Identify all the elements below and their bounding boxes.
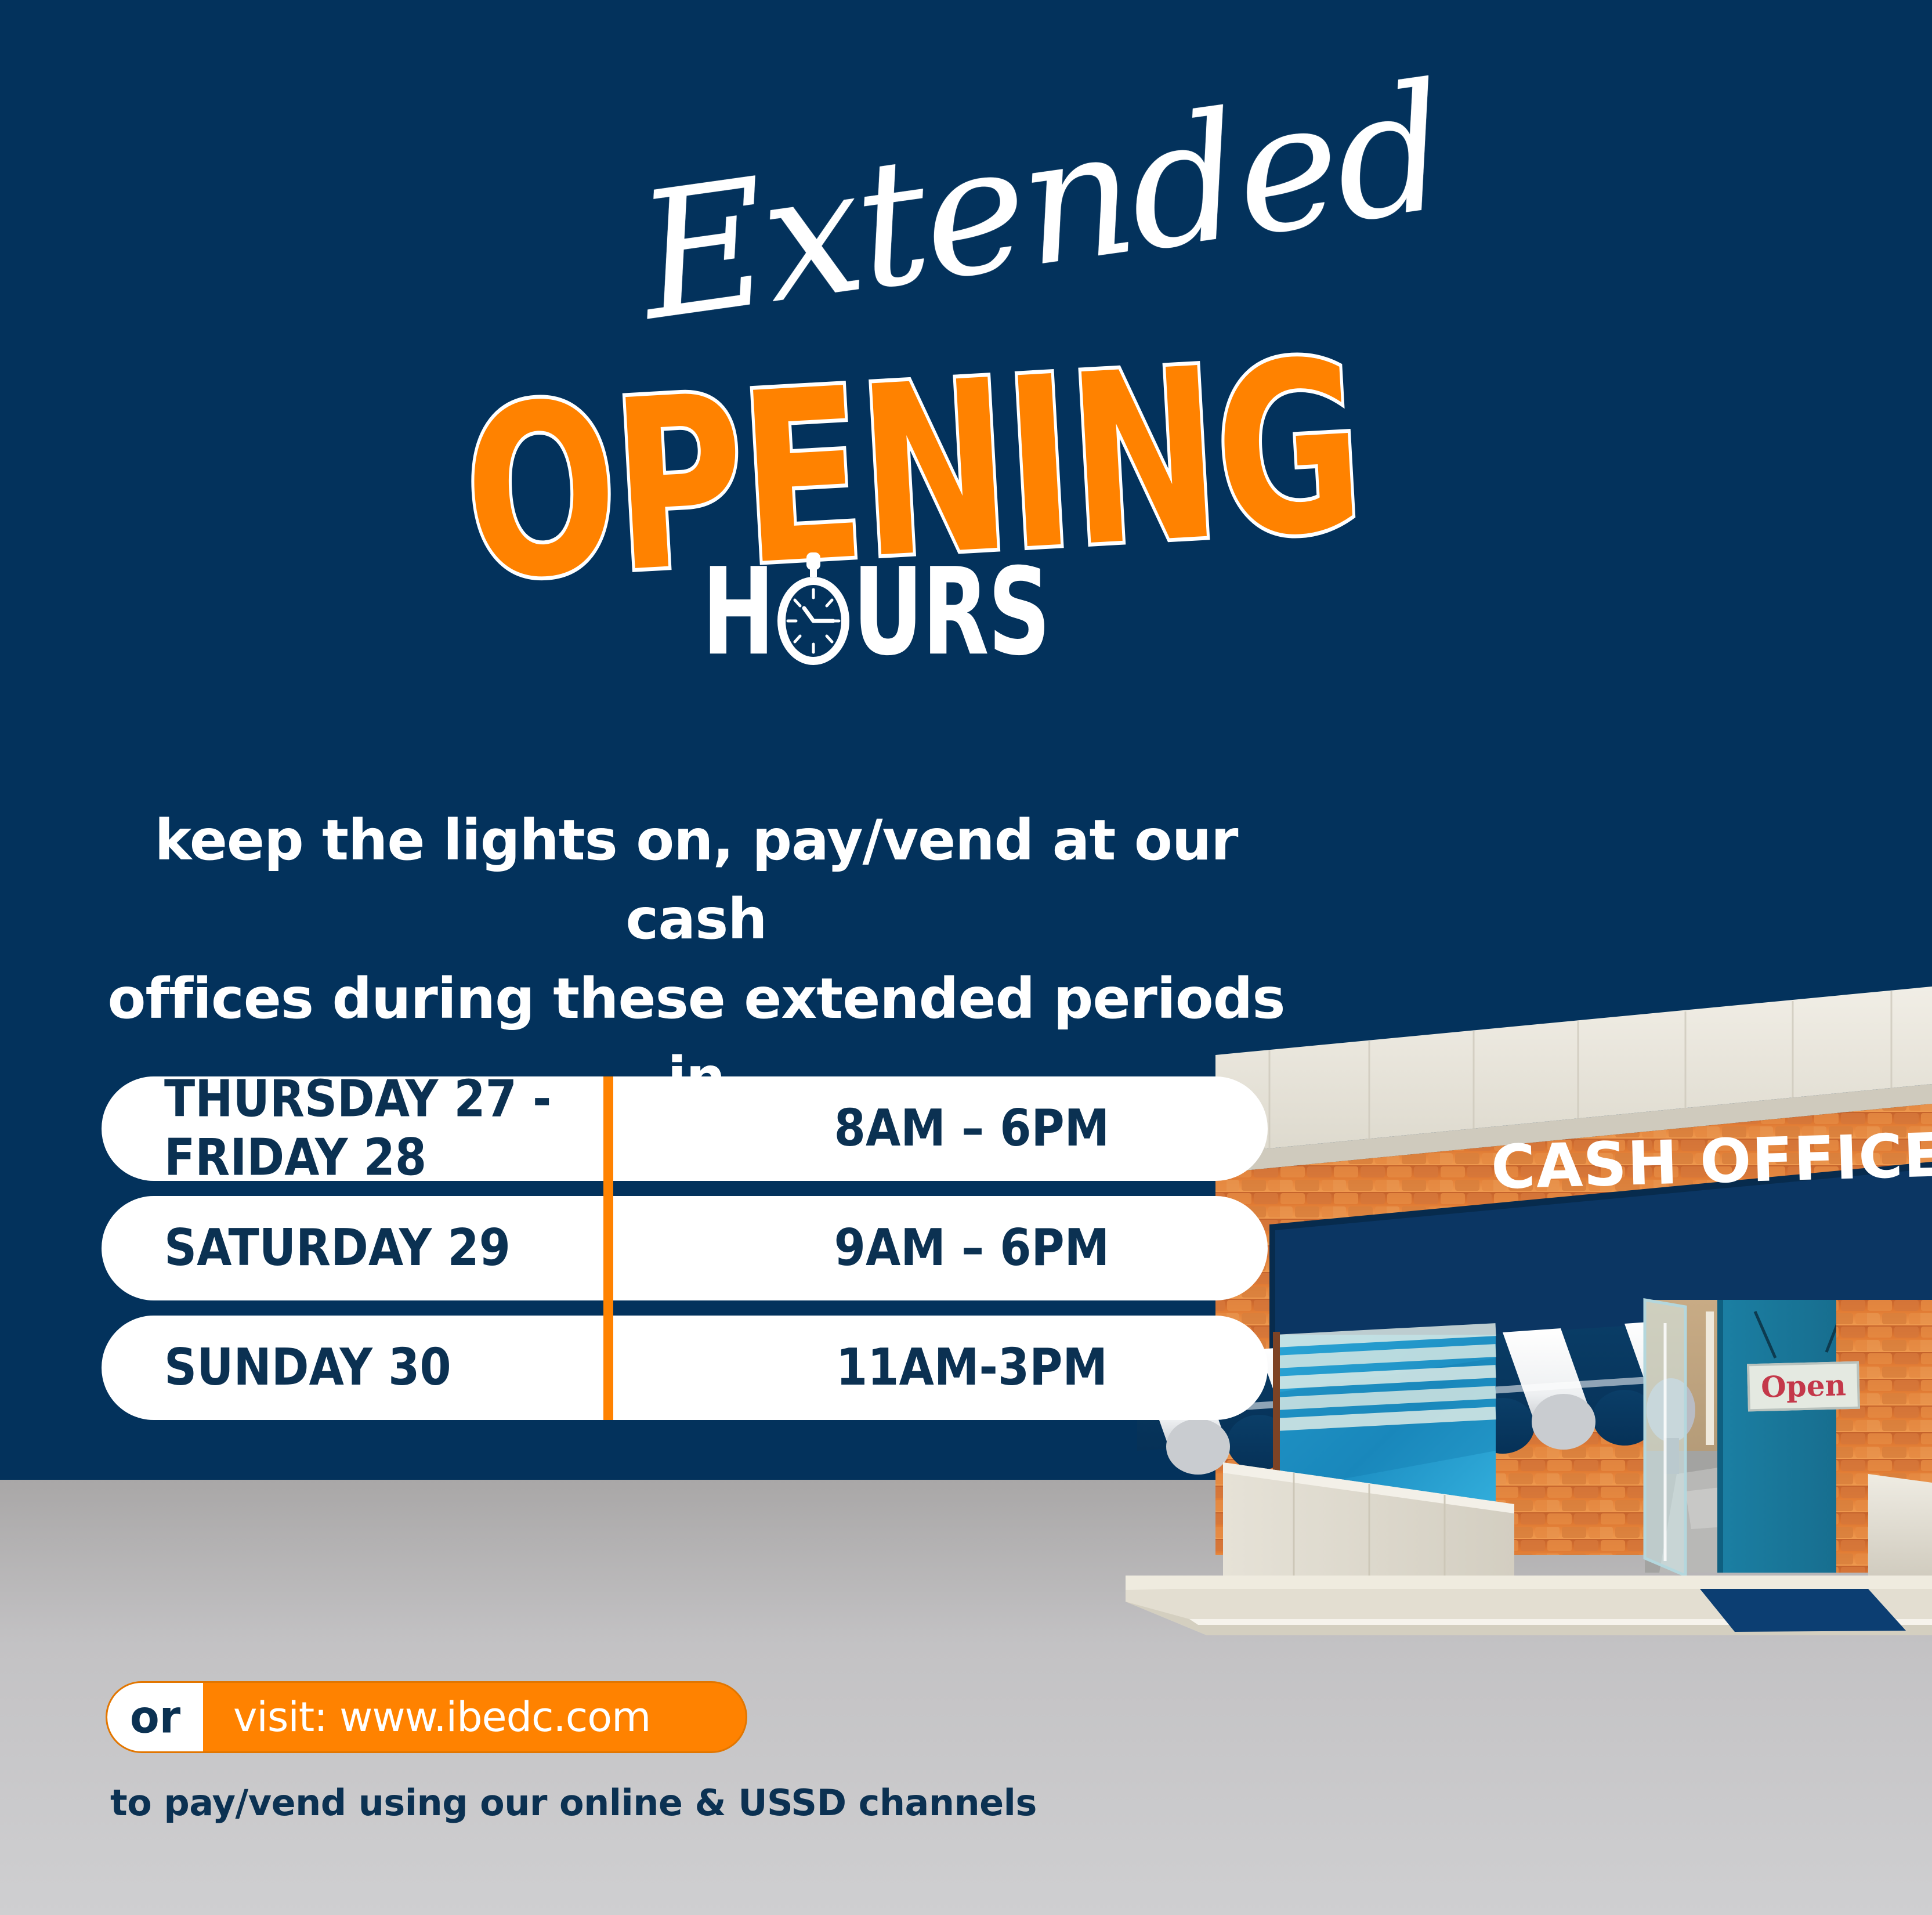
schedule-column-divider bbox=[603, 1076, 613, 1420]
open-sign: Open bbox=[1747, 1361, 1860, 1412]
headline-hours-urs: URS bbox=[853, 555, 1050, 670]
cta-or-label: or bbox=[107, 1683, 203, 1751]
table-row[interactable]: SUNDAY 30 11AM-3PM bbox=[102, 1316, 1268, 1420]
stopwatch-icon bbox=[775, 551, 852, 667]
schedule-table: THURSDAY 27 - FRIDAY 28 8AM – 6PM SATURD… bbox=[102, 1076, 1268, 1420]
schedule-time: 8AM – 6PM bbox=[705, 1100, 1268, 1158]
schedule-day: SUNDAY 30 bbox=[102, 1339, 705, 1397]
schedule-day: SATURDAY 29 bbox=[102, 1219, 705, 1278]
headline-hours-row: H bbox=[702, 551, 1050, 670]
table-row[interactable]: THURSDAY 27 - FRIDAY 28 8AM – 6PM bbox=[102, 1076, 1268, 1181]
poster-canvas: CASH OFFICE Open Welcome Extended OPENIN… bbox=[0, 0, 1932, 1915]
headline-block: Extended OPENING H bbox=[0, 0, 1421, 731]
headline-hours-h: H bbox=[702, 555, 774, 670]
schedule-time: 11AM-3PM bbox=[705, 1339, 1268, 1397]
cash-office-signboard-label: CASH OFFICE bbox=[1490, 1119, 1932, 1203]
table-row[interactable]: SATURDAY 29 9AM – 6PM bbox=[102, 1196, 1268, 1300]
footer-note: to pay/vend using our online & USSD chan… bbox=[110, 1782, 1037, 1824]
schedule-time: 9AM – 6PM bbox=[705, 1219, 1268, 1278]
open-sign-label: Open bbox=[1761, 1371, 1847, 1402]
cta-website-text: visit: www.ibedc.com bbox=[203, 1683, 746, 1751]
schedule-day: THURSDAY 27 - FRIDAY 28 bbox=[102, 1070, 705, 1187]
body-line-1: keep the lights on, pay/vend at our cash bbox=[99, 801, 1294, 959]
visit-website-cta[interactable]: or visit: www.ibedc.com bbox=[107, 1683, 746, 1751]
